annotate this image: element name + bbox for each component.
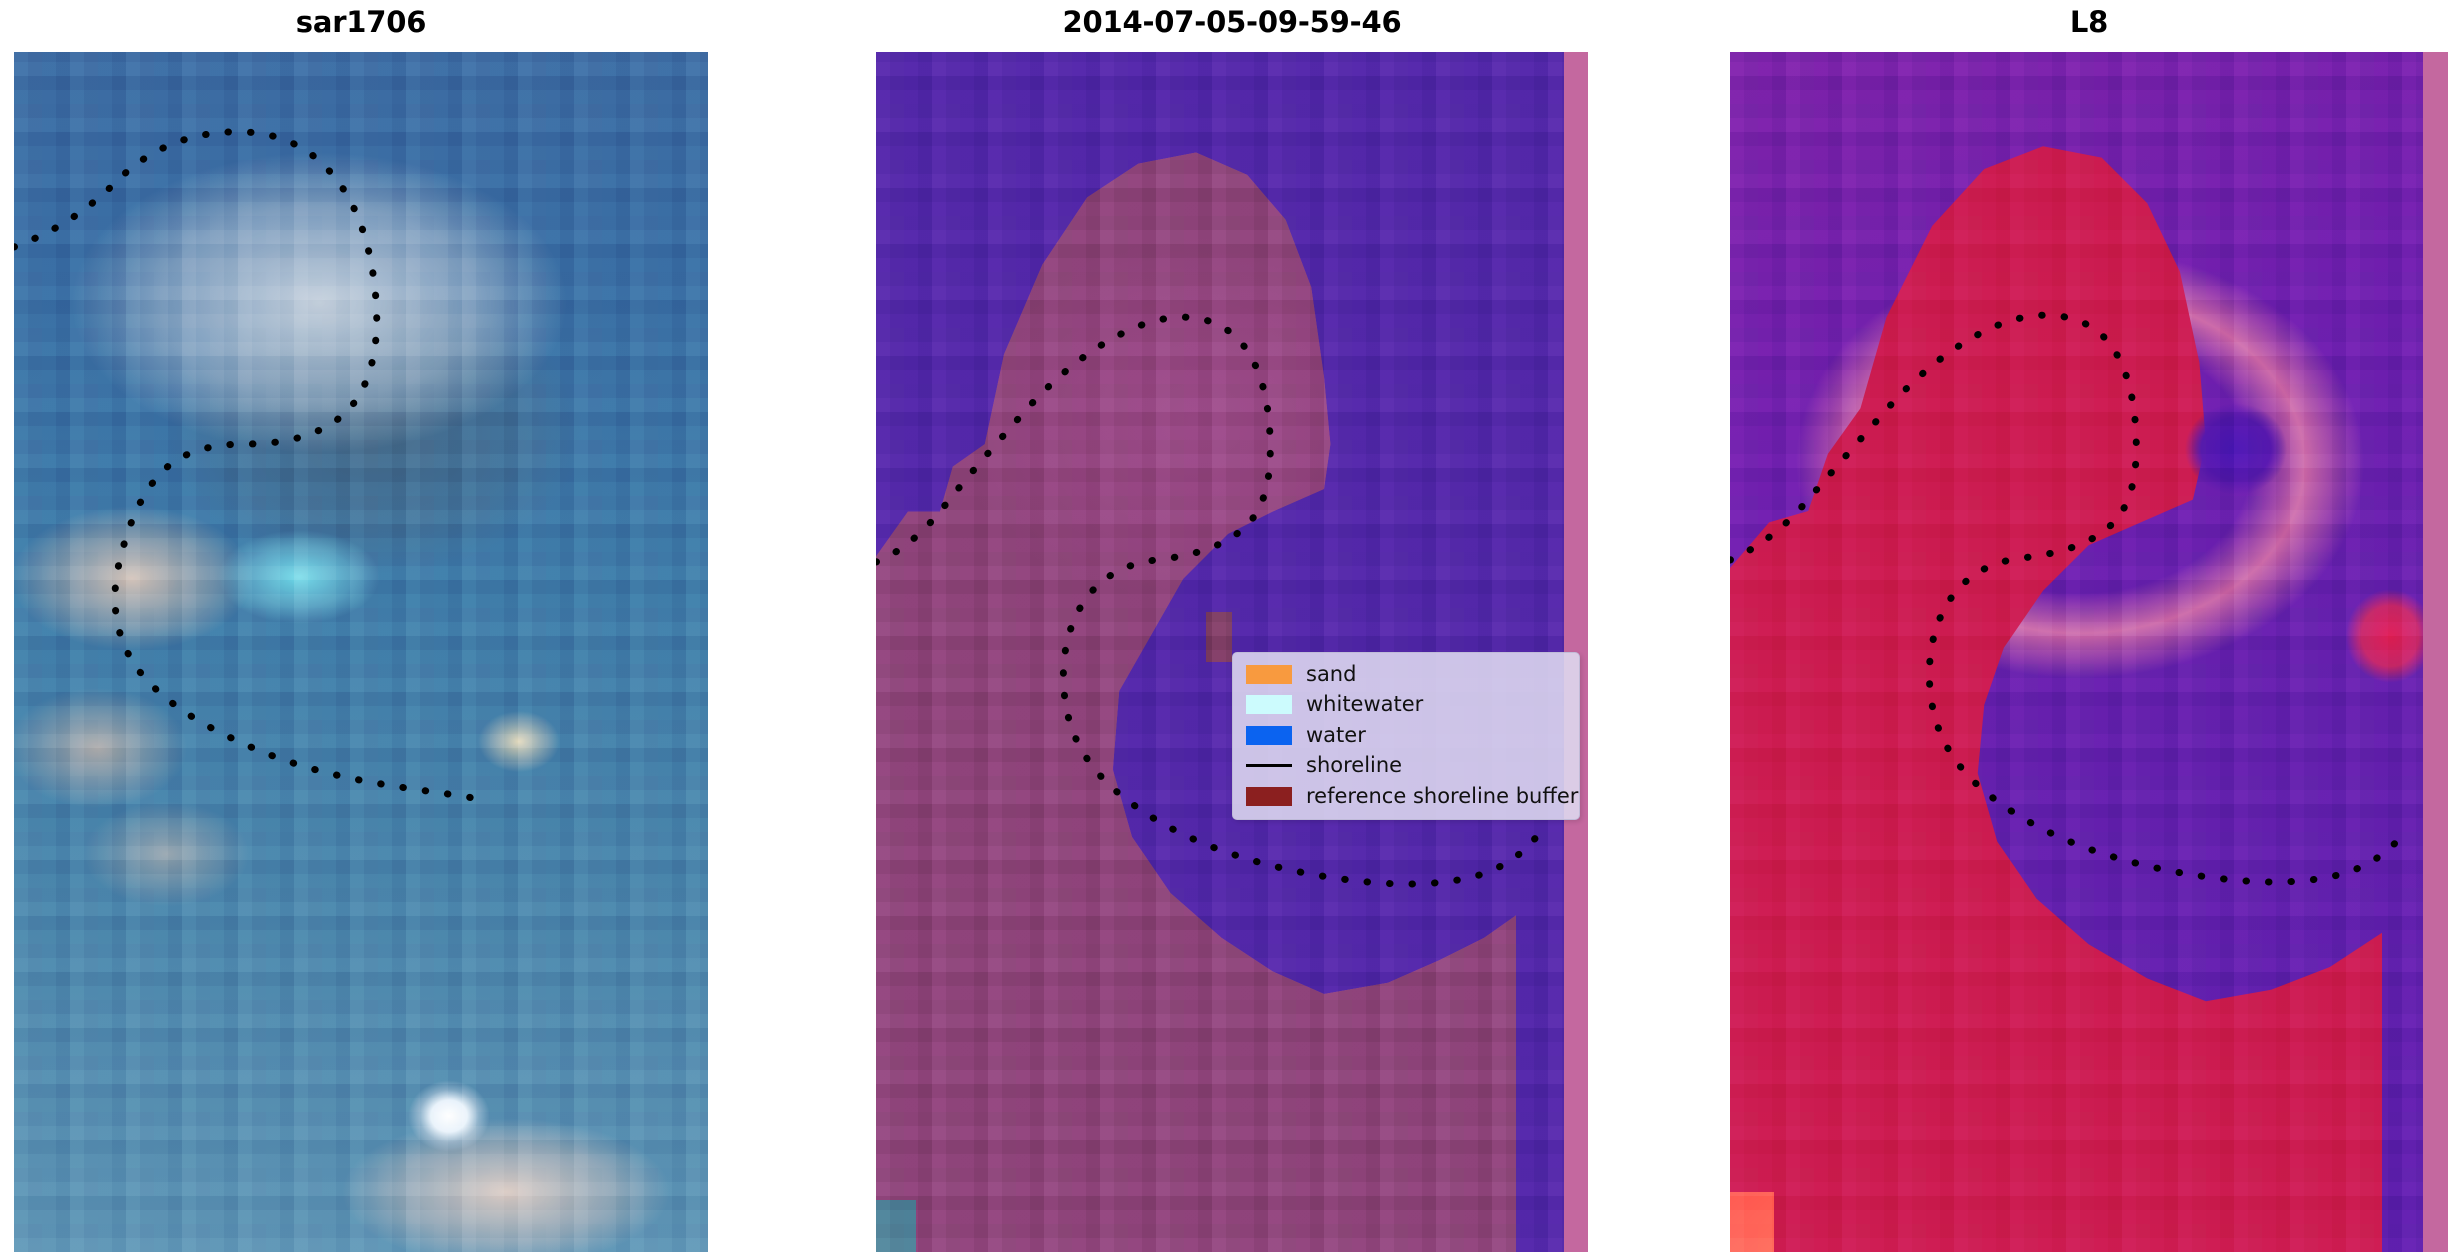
l8-image: [1730, 52, 2448, 1252]
panel-title-classified: 2014-07-05-09-59-46: [876, 2, 1588, 42]
legend-label-whitewater: whitewater: [1306, 694, 1423, 715]
sar-whitewater-patch: [204, 522, 394, 632]
l8-dark-water-patch: [2176, 394, 2296, 504]
sand-swatch: [1246, 665, 1292, 684]
legend-label-sand: sand: [1306, 664, 1356, 685]
l8-red-edge-patch: [2313, 576, 2423, 696]
sar1706-image: [14, 52, 708, 1252]
legend-item-shoreline: shoreline: [1233, 751, 1579, 782]
legend-item-whitewater: whitewater: [1233, 690, 1579, 721]
shoreline-swatch: [1246, 764, 1292, 767]
sar-bright-spot: [384, 1062, 514, 1182]
l8-orange-corner-patch: [1730, 1192, 1774, 1252]
whitewater-swatch: [1246, 695, 1292, 714]
legend-item-water: water: [1233, 720, 1579, 751]
panel-title-sar: sar1706: [14, 2, 708, 42]
legend-item-sand: sand: [1233, 659, 1579, 690]
legend-item-reference-shoreline-buffer: reference shoreline buffer: [1233, 781, 1579, 812]
sar-sand-patch-right: [444, 692, 594, 802]
legend-label-water: water: [1306, 725, 1366, 746]
panel-l8[interactable]: [1730, 52, 2448, 1252]
legend-label-reference-shoreline-buffer: reference shoreline buffer: [1306, 786, 1578, 807]
l8-edge-strip: [2423, 52, 2448, 1252]
legend-label-shoreline: shoreline: [1306, 755, 1402, 776]
water-swatch: [1246, 726, 1292, 745]
legend-box[interactable]: sand whitewater water shoreline referenc…: [1232, 652, 1580, 820]
sar-land-layer: [14, 112, 708, 1172]
classified-reference-buffer: [1206, 612, 1232, 662]
classified-teal-patch: [876, 1200, 916, 1252]
figure-canvas: sar1706 2014-07-05-09-59-46: [0, 0, 2460, 1259]
panel-title-l8: L8: [1730, 2, 2448, 42]
panel-sar1706[interactable]: [14, 52, 708, 1252]
reference-shoreline-buffer-swatch: [1246, 787, 1292, 806]
